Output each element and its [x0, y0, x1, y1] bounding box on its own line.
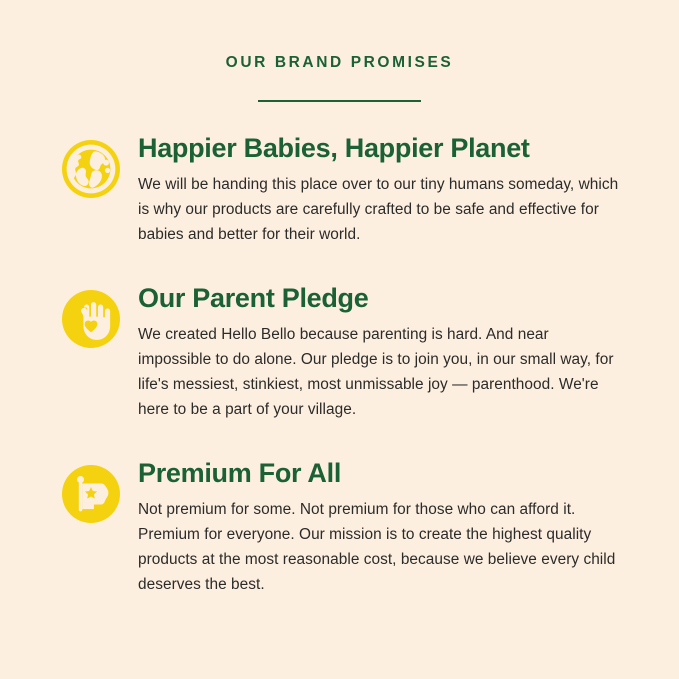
promise-title: Happier Babies, Happier Planet: [138, 134, 621, 162]
page-header: OUR BRAND PROMISES: [0, 0, 679, 102]
promise-item: Premium For All Not premium for some. No…: [62, 459, 621, 598]
globe-icon: [62, 140, 120, 198]
promise-content: Premium For All Not premium for some. No…: [138, 459, 621, 598]
page-title: OUR BRAND PROMISES: [0, 55, 679, 71]
promise-content: Happier Babies, Happier Planet We will b…: [138, 134, 621, 248]
promise-text: We will be handing this place over to ou…: [138, 173, 621, 248]
header-divider: [258, 100, 421, 102]
promise-item: Our Parent Pledge We created Hello Bello…: [62, 284, 621, 423]
flag-star-icon: [62, 465, 120, 523]
hand-heart-icon: [62, 290, 120, 348]
promise-text: Not premium for some. Not premium for th…: [138, 498, 621, 598]
promise-title: Premium For All: [138, 459, 621, 487]
promise-title: Our Parent Pledge: [138, 284, 621, 312]
promises-list: Happier Babies, Happier Planet We will b…: [0, 134, 679, 599]
brand-promises-page: OUR BRAND PROMISES: [0, 0, 679, 679]
promise-item: Happier Babies, Happier Planet We will b…: [62, 134, 621, 248]
promise-content: Our Parent Pledge We created Hello Bello…: [138, 284, 621, 423]
promise-text: We created Hello Bello because parenting…: [138, 323, 621, 423]
